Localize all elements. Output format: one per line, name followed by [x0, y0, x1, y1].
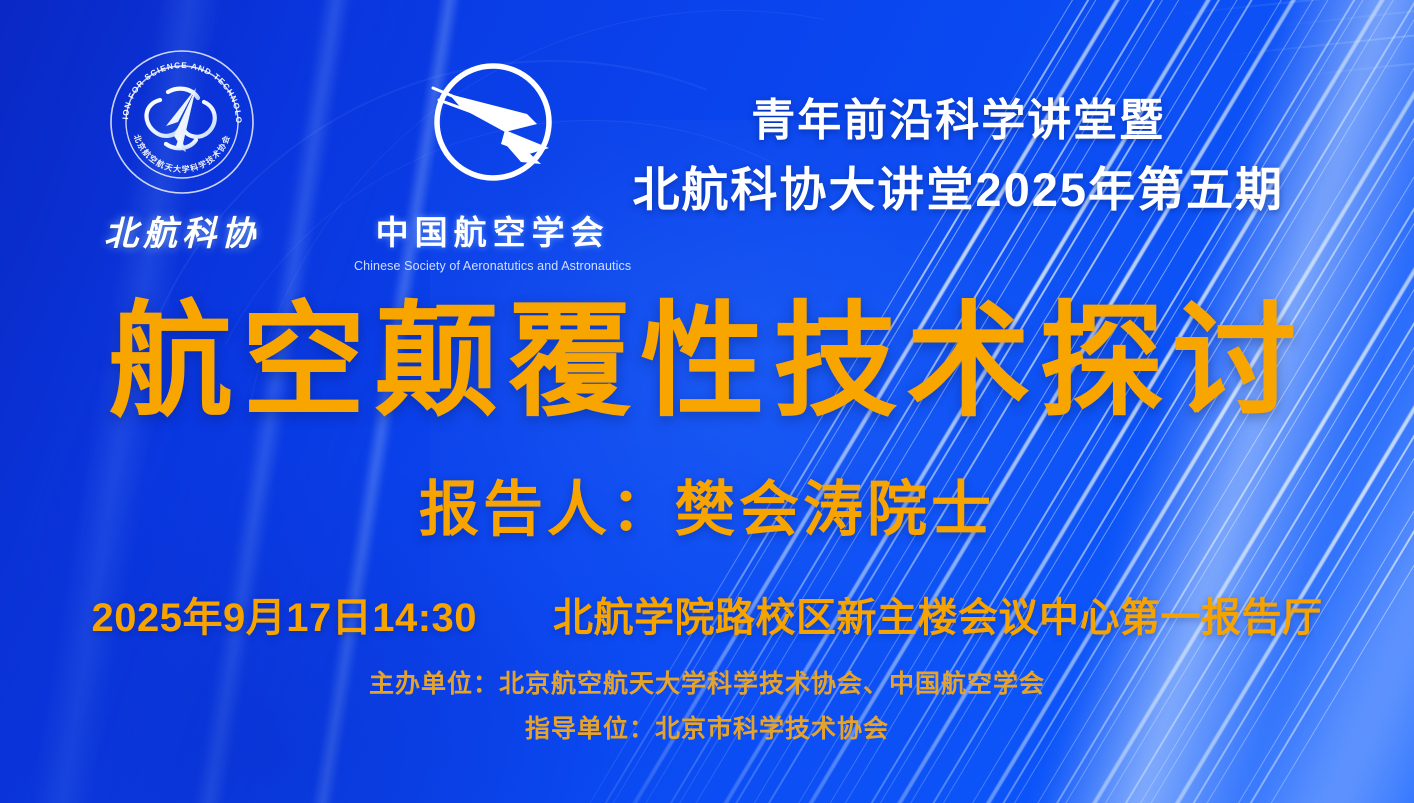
- event-meta-row: 2025年9月17日14:30 北航学院路校区新主楼会议中心第一报告厅: [0, 585, 1414, 643]
- page-title: 航空颠覆性技术探讨: [0, 300, 1414, 424]
- csaa-logo-subtitle: Chinese Society of Aeronatutics and Astr…: [354, 259, 631, 273]
- csaa-logo-block: 中国航空学会 Chinese Society of Aeronatutics a…: [354, 48, 631, 273]
- buaa-logo-label: 北航科协: [104, 206, 260, 255]
- event-datetime: 2025年9月17日14:30: [91, 585, 477, 643]
- poster-header: 青年前沿科学讲堂暨 北航科协大讲堂2025年第五期: [632, 92, 1284, 220]
- poster-content: ASSOCIATION FOR SCIENCE AND TECHNOLOGY·B…: [0, 0, 1414, 803]
- speaker-line: 报告人：樊会涛院士: [0, 480, 1414, 540]
- organizer-block: 主办单位：北京航空航天大学科学技术协会、中国航空学会 指导单位：北京市科学技术协…: [0, 662, 1414, 751]
- header-line-1: 青年前沿科学讲堂暨: [632, 92, 1284, 149]
- buaa-kexie-seal-icon: ASSOCIATION FOR SCIENCE AND TECHNOLOGY·B…: [108, 48, 256, 196]
- event-venue: 北航学院路校区新主楼会议中心第一报告厅: [553, 585, 1323, 643]
- guiding-organization: 指导单位：北京市科学技术协会: [0, 707, 1414, 752]
- csaa-aircraft-circle-icon: [409, 52, 577, 202]
- buaa-logo-block: ASSOCIATION FOR SCIENCE AND TECHNOLOGY·B…: [104, 48, 260, 255]
- csaa-logo-label: 中国航空学会: [376, 206, 610, 254]
- logo-row: ASSOCIATION FOR SCIENCE AND TECHNOLOGY·B…: [104, 48, 631, 273]
- header-line-2: 北航科协大讲堂2025年第五期: [632, 159, 1284, 220]
- event-poster: ASSOCIATION FOR SCIENCE AND TECHNOLOGY·B…: [0, 0, 1414, 803]
- svg-text:ASSOCIATION FOR SCIENCE AND TE: ASSOCIATION FOR SCIENCE AND TECHNOLOGY·B…: [108, 48, 243, 124]
- host-organizations: 主办单位：北京航空航天大学科学技术协会、中国航空学会: [0, 662, 1414, 707]
